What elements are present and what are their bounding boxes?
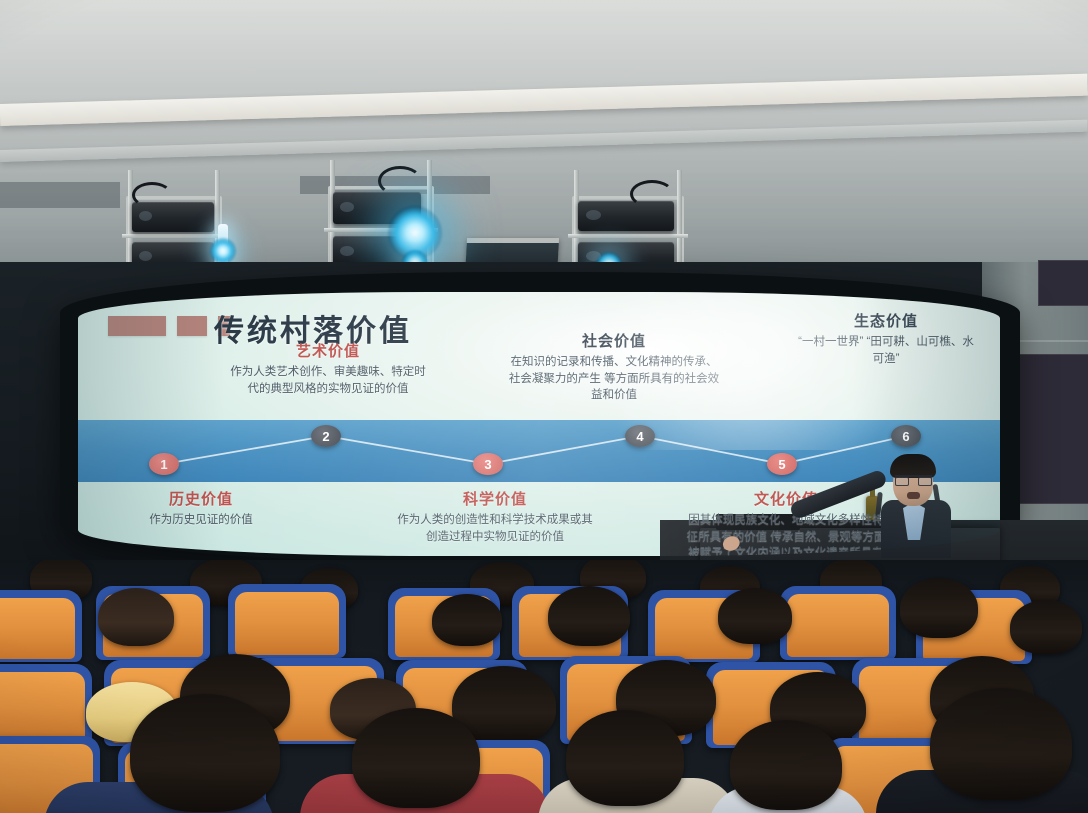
ceiling-dark-panel xyxy=(0,182,120,208)
node-2[interactable]: 2 xyxy=(311,425,341,447)
cable-bundle-icon xyxy=(630,180,674,208)
block-heading: 社会价值 xyxy=(508,330,720,351)
node-3[interactable]: 3 xyxy=(473,453,503,475)
audience-head xyxy=(98,588,174,646)
presenter xyxy=(855,452,985,552)
block-body: 作为历史见证的价值 xyxy=(106,512,296,529)
cable-bundle-icon xyxy=(378,166,422,196)
block-body: “一村一世界” “田可耕、山可樵、水可渔” xyxy=(796,334,976,367)
audience-head xyxy=(1010,600,1082,654)
node-4[interactable]: 4 xyxy=(625,425,655,447)
audience-seating xyxy=(0,560,1088,813)
lecture-hall-photo: 传统村落价值 艺术价值 作为人类艺术创作、审美趣味、特定时代的典型风格的实物见证… xyxy=(0,0,1088,813)
slide-block-science: 科学价值 作为人类的创造性和科学技术成果或其创造过程中实物见证的价值 xyxy=(396,488,594,545)
node-5[interactable]: 5 xyxy=(767,453,797,475)
slide-block-art: 艺术价值 作为人类艺术创作、审美趣味、特定时代的典型风格的实物见证的价值 xyxy=(228,340,428,397)
node-6[interactable]: 6 xyxy=(891,425,921,447)
audience-head xyxy=(900,578,978,638)
slide-decoration-blocks xyxy=(108,316,230,336)
block-heading: 科学价值 xyxy=(396,488,594,509)
audience-head-front xyxy=(930,688,1072,800)
cable-bundle-icon xyxy=(132,182,172,208)
node-1[interactable]: 1 xyxy=(149,453,179,475)
block-heading: 历史价值 xyxy=(106,488,296,509)
deco-block-medium xyxy=(177,316,207,336)
glasses-icon xyxy=(895,475,932,484)
block-body: 作为人类的创造性和科学技术成果或其创造过程中实物见证的价值 xyxy=(396,512,594,545)
block-body: 作为人类艺术创作、审美趣味、特定时代的典型风格的实物见证的价值 xyxy=(228,364,428,397)
seat[interactable] xyxy=(228,584,346,658)
seat[interactable] xyxy=(780,586,896,660)
audience-head-front xyxy=(730,720,842,810)
audience-head-front xyxy=(566,710,684,806)
deco-block-large xyxy=(108,316,166,336)
seat[interactable] xyxy=(0,590,82,662)
block-body: 在知识的记录和传播、文化精神的传承、社会凝聚力的产生 等方面所具有的社会效益和价… xyxy=(508,354,720,404)
slide-block-history: 历史价值 作为历史见证的价值 xyxy=(106,488,296,529)
wall-panel xyxy=(1010,354,1088,504)
audience-head-front xyxy=(130,694,280,812)
rig-shelf xyxy=(122,234,226,238)
block-heading: 生态价值 xyxy=(796,310,976,331)
block-heading: 艺术价值 xyxy=(228,340,428,361)
slide-block-ecological: 生态价值 “一村一世界” “田可耕、山可樵、水可渔” xyxy=(796,310,976,367)
audience-head-front xyxy=(352,708,480,808)
audience-head xyxy=(548,586,630,646)
presenter-mouth xyxy=(907,492,920,499)
rig-shelf xyxy=(568,234,688,238)
projector-lens-glow xyxy=(210,238,236,264)
slide-block-social: 社会价值 在知识的记录和传播、文化精神的传承、社会凝聚力的产生 等方面所具有的社… xyxy=(508,330,720,404)
audience-head xyxy=(432,594,502,646)
audience-head xyxy=(718,588,792,644)
wall-panel xyxy=(1038,260,1088,306)
